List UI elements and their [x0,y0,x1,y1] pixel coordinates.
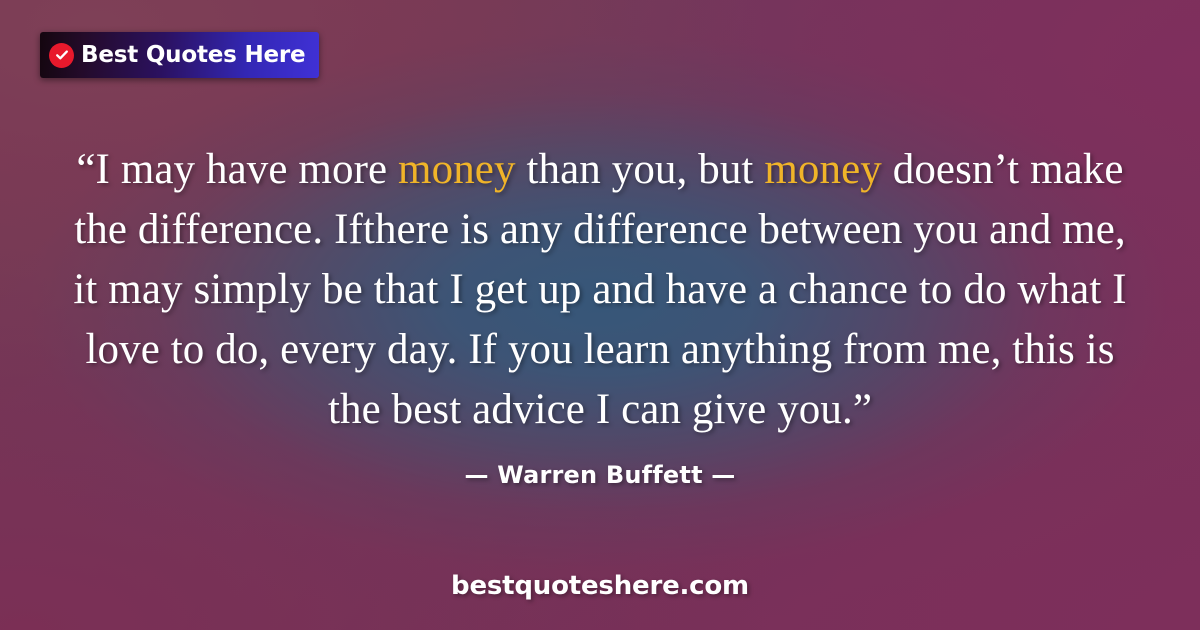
quote-card: Best Quotes Here “I may have more money … [0,0,1200,630]
brand-badge-label: Best Quotes Here [81,44,305,67]
brand-badge[interactable]: Best Quotes Here [40,32,319,78]
quote-author: — Warren Buffett — [0,461,1200,489]
quote-highlight-money-2: money [764,146,882,193]
quote-highlight-money-1: money [398,146,516,193]
quote-segment-1: “I may have more [76,146,398,193]
quote-text: “I may have more money than you, but mon… [60,140,1140,440]
check-circle-icon [49,43,74,68]
website-footer: bestquoteshere.com [0,571,1200,601]
quote-segment-2: than you, but [516,146,765,193]
